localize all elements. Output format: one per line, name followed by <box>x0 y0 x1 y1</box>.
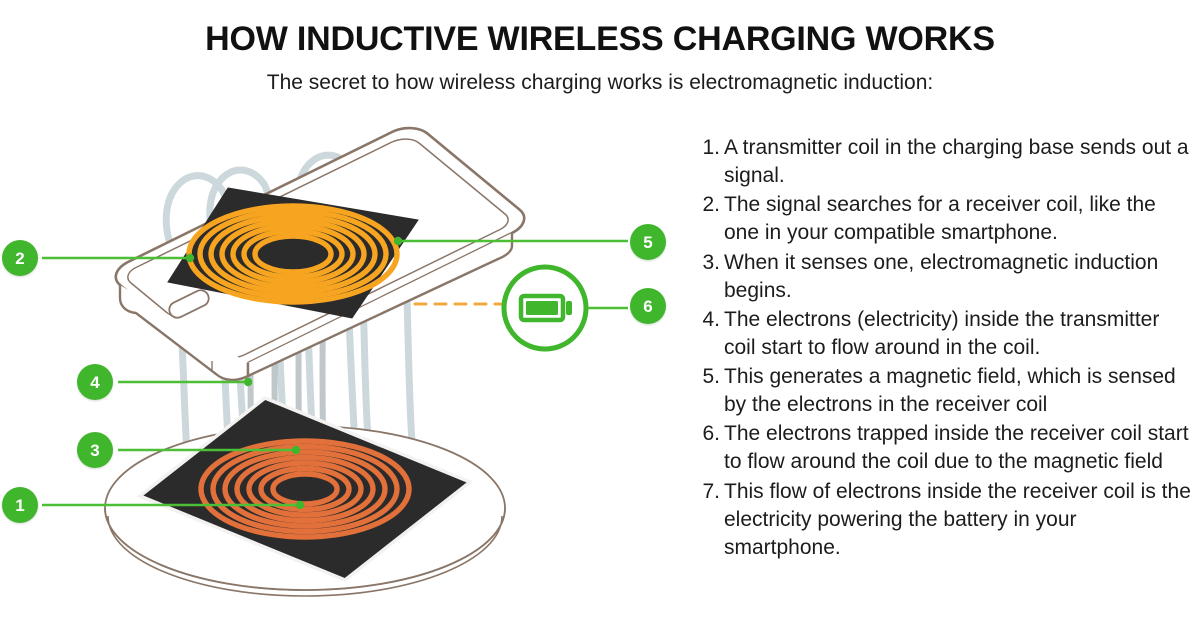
diagram-badge-4[interactable]: 4 <box>77 364 113 400</box>
step-text: The electrons (electricity) inside the t… <box>724 306 1194 362</box>
diagram-badge-6[interactable]: 6 <box>630 288 666 324</box>
page-title: HOW INDUCTIVE WIRELESS CHARGING WORKS <box>0 0 1200 59</box>
step-item: 1.A transmitter coil in the charging bas… <box>694 134 1194 190</box>
step-text: The signal searches for a receiver coil,… <box>724 191 1194 247</box>
step-number: 2. <box>694 191 724 219</box>
step-item: 5.This generates a magnetic field, which… <box>694 363 1194 419</box>
infographic-page: HOW INDUCTIVE WIRELESS CHARGING WORKS Th… <box>0 0 1200 630</box>
step-text: A transmitter coil in the charging base … <box>724 134 1194 190</box>
page-subtitle: The secret to how wireless charging work… <box>0 59 1200 95</box>
diagram-badge-3[interactable]: 3 <box>77 432 113 468</box>
smartphone <box>116 128 524 380</box>
battery-icon <box>504 267 586 349</box>
step-text: This flow of electrons inside the receiv… <box>724 478 1194 562</box>
step-number: 3. <box>694 249 724 277</box>
step-number: 5. <box>694 363 724 391</box>
step-text: When it senses one, electromagnetic indu… <box>724 249 1194 305</box>
step-item: 3.When it senses one, electromagnetic in… <box>694 249 1194 305</box>
diagram-badge-2[interactable]: 2 <box>2 240 38 276</box>
step-item: 4.The electrons (electricity) inside the… <box>694 306 1194 362</box>
diagram-badge-5[interactable]: 5 <box>630 224 666 260</box>
step-number: 1. <box>694 134 724 162</box>
step-number: 7. <box>694 478 724 506</box>
step-text: The electrons trapped inside the receive… <box>724 420 1194 476</box>
step-text: This generates a magnetic field, which i… <box>724 363 1194 419</box>
header: HOW INDUCTIVE WIRELESS CHARGING WORKS Th… <box>0 0 1200 95</box>
steps-list: 1.A transmitter coil in the charging bas… <box>694 134 1194 563</box>
step-number: 4. <box>694 306 724 334</box>
diagram-badge-1[interactable]: 1 <box>2 487 38 523</box>
step-item: 6.The electrons trapped inside the recei… <box>694 420 1194 476</box>
step-item: 7.This flow of electrons inside the rece… <box>694 478 1194 562</box>
step-number: 6. <box>694 420 724 448</box>
charging-base <box>105 398 505 630</box>
step-item: 2.The signal searches for a receiver coi… <box>694 191 1194 247</box>
